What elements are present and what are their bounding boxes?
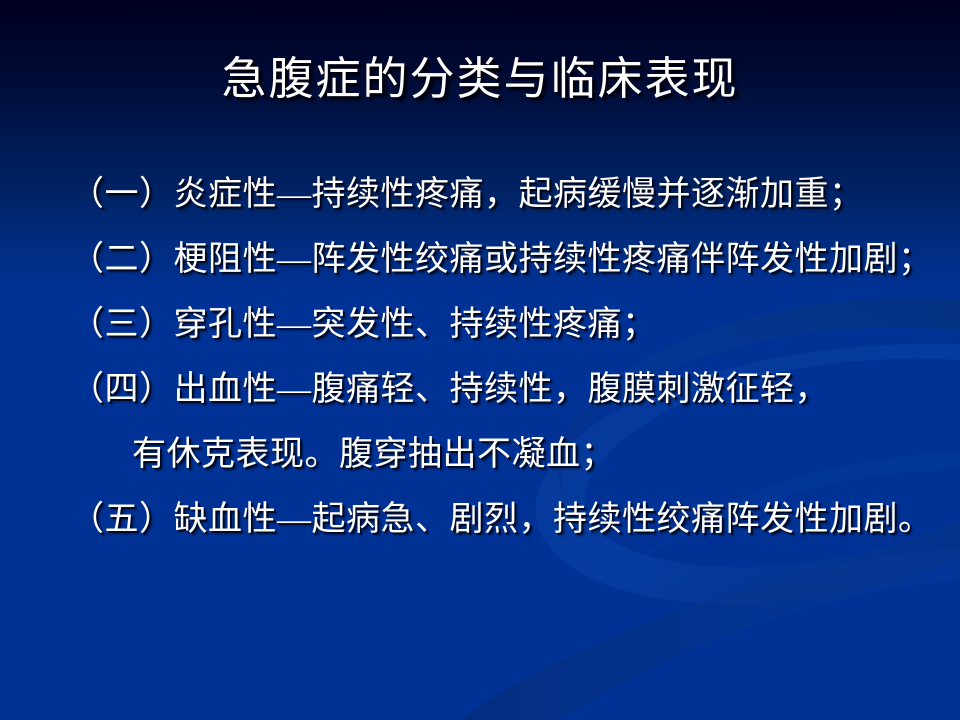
slide-title-container: 急腹症的分类与临床表现: [0, 54, 960, 106]
body-line-2: （二）梗阻性—阵发性绞痛或持续性疼痛伴阵发性加剧；: [70, 243, 930, 277]
slide-title: 急腹症的分类与临床表现: [221, 54, 738, 106]
body-line-5: （五）缺血性—起病急、剧烈，持续性绞痛阵发性加剧。: [70, 503, 930, 537]
body-line-1: （一）炎症性—持续性疼痛，起病缓慢并逐渐加重；: [70, 178, 930, 212]
slide-body: （一）炎症性—持续性疼痛，起病缓慢并逐渐加重； （二）梗阻性—阵发性绞痛或持续性…: [70, 178, 930, 537]
body-line-4-continuation: 有休克表现。腹穿抽出不凝血；: [70, 438, 930, 472]
body-line-4: （四）出血性—腹痛轻、持续性，腹膜刺激征轻，: [70, 373, 930, 407]
body-line-3: （三）穿孔性—突发性、持续性疼痛；: [70, 308, 930, 342]
presentation-slide: 急腹症的分类与临床表现 （一）炎症性—持续性疼痛，起病缓慢并逐渐加重； （二）梗…: [0, 0, 960, 720]
